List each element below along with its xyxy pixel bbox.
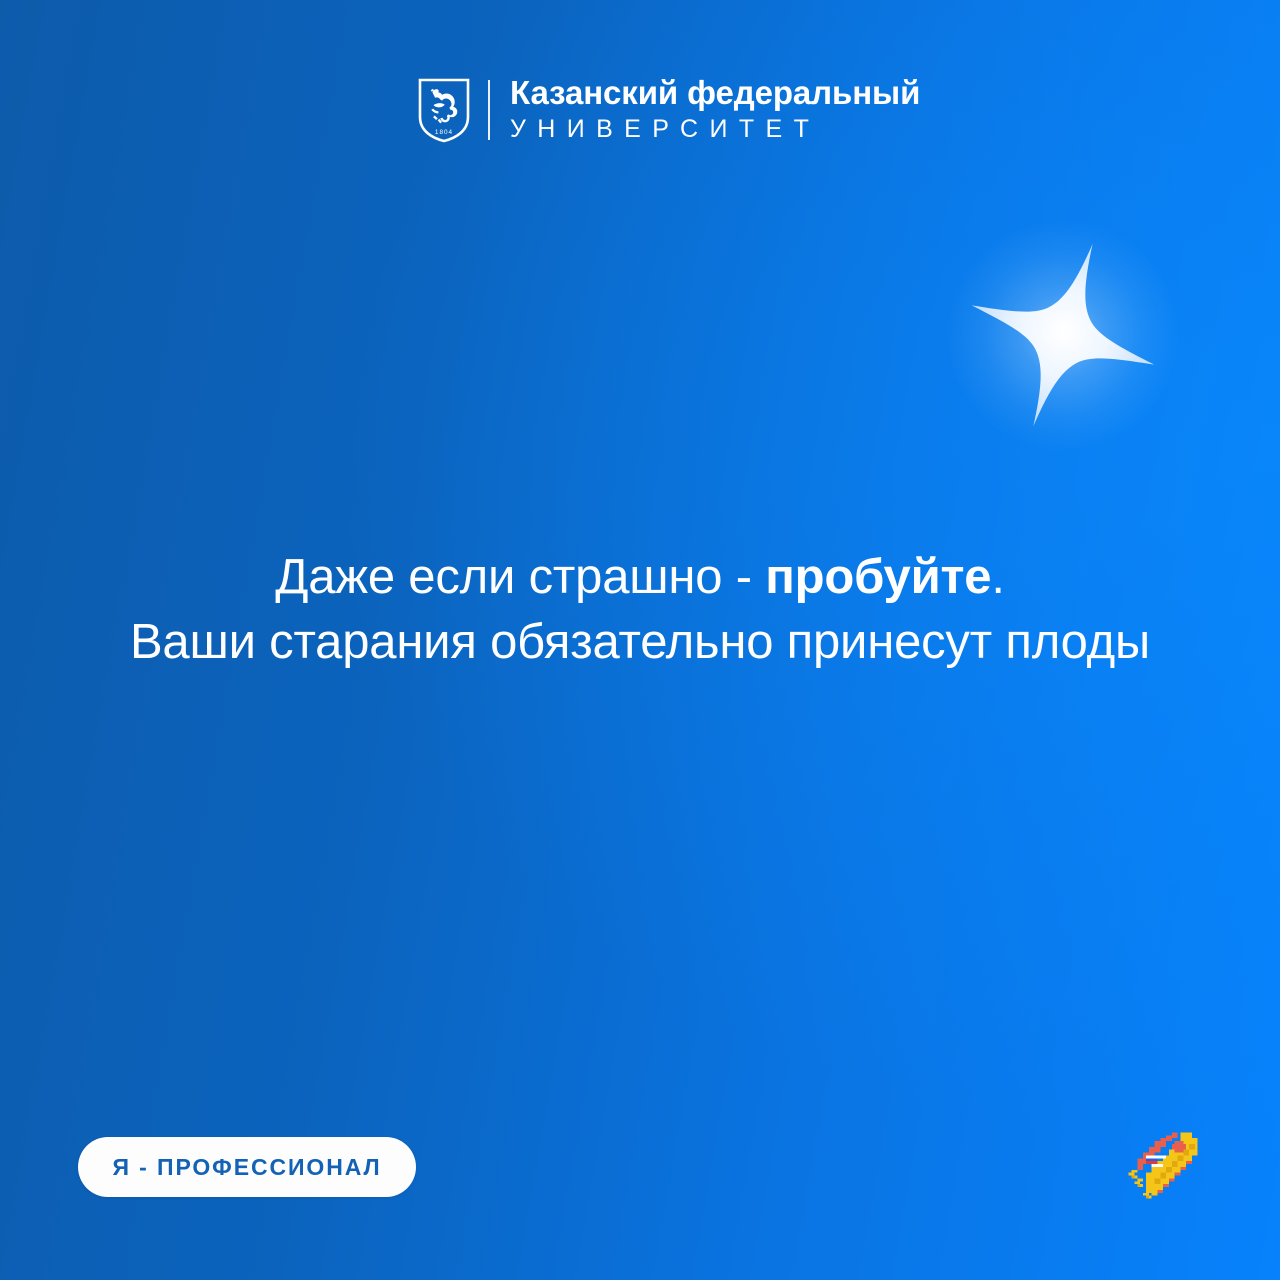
headline-line-1-prefix: Даже если страшно - bbox=[275, 550, 765, 604]
headline-emphasis: пробуйте bbox=[765, 550, 991, 604]
poster-canvas: 1804 Казанский федеральный УНИВЕРСИТЕТ Д… bbox=[0, 0, 1280, 1280]
ya-professional-badge[interactable]: Я - ПРОФЕССИОНАЛ bbox=[78, 1137, 416, 1197]
headline: Даже если страшно - пробуйте. Ваши стара… bbox=[0, 545, 1280, 674]
svg-text:1804: 1804 bbox=[435, 129, 453, 136]
logo-line-2: УНИВЕРСИТЕТ bbox=[510, 114, 920, 144]
sparkle-star bbox=[963, 235, 1163, 435]
headline-line-1-suffix: . bbox=[991, 550, 1004, 604]
logo-line-1: Казанский федеральный bbox=[510, 76, 920, 110]
logo-divider bbox=[488, 80, 490, 140]
kfu-logo: 1804 Казанский федеральный УНИВЕРСИТЕТ bbox=[418, 74, 920, 146]
shield-icon: 1804 bbox=[418, 77, 470, 143]
badge-label: Я - ПРОФЕССИОНАЛ bbox=[112, 1154, 381, 1181]
headline-line-2: Ваши старания обязательно принесут плоды bbox=[40, 610, 1240, 675]
headline-line-1: Даже если страшно - пробуйте. bbox=[40, 545, 1240, 610]
logo-wordmark: Казанский федеральный УНИВЕРСИТЕТ bbox=[510, 78, 920, 142]
rocket-icon bbox=[1120, 1118, 1212, 1210]
sparkle-star-icon bbox=[937, 209, 1189, 461]
